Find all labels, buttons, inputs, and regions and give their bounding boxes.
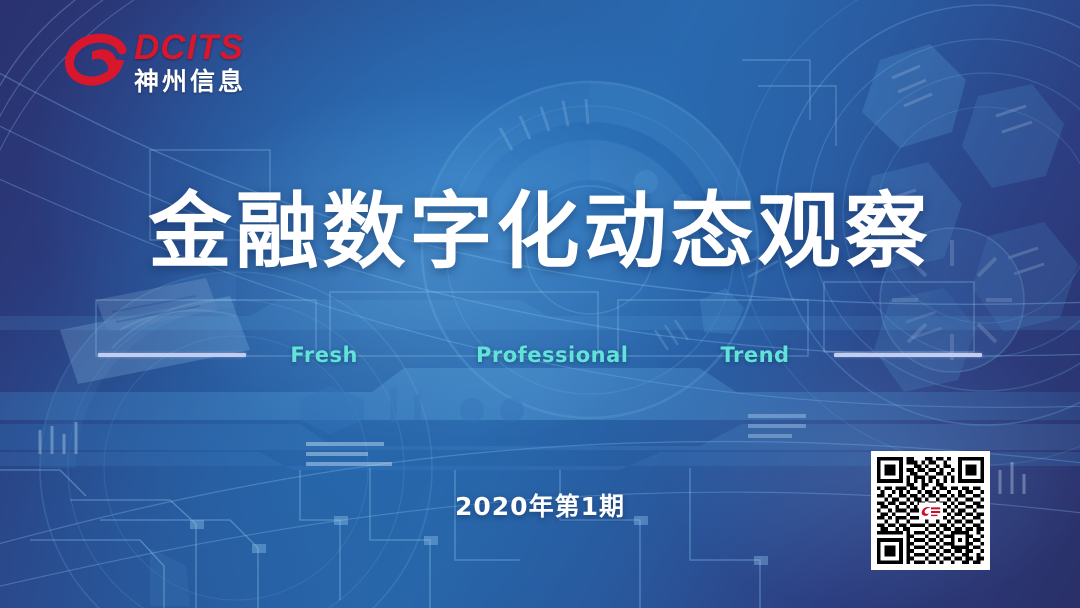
dcits-mini-logo-icon	[920, 503, 942, 518]
logo-wordmark-group: DCITS 神州信息	[134, 28, 284, 97]
tagline-row: Fresh Professional Trend	[0, 338, 1080, 372]
circuit-pads	[190, 516, 768, 565]
logo-chinese-name: 神州信息	[134, 67, 284, 97]
dcits-swirl-icon	[62, 30, 132, 96]
page-title: 金融数字化动态观察	[0, 180, 1080, 284]
gear-dial-left	[40, 272, 432, 608]
qr-code[interactable]	[871, 451, 990, 570]
tagline-word-fresh: Fresh	[290, 343, 358, 367]
dcits-swirl-svg	[62, 30, 132, 96]
tagline-rule-left	[98, 353, 246, 357]
brand-logo: DCITS 神州信息	[62, 28, 277, 110]
qr-center-logo	[919, 502, 943, 519]
cover-slide: DCITS 神州信息 金融数字化动态观察 Fresh Professional …	[0, 0, 1080, 608]
tech-band-upper	[0, 300, 1080, 330]
tagline-word-trend: Trend	[720, 343, 789, 367]
tagline-word-professional: Professional	[476, 343, 629, 367]
logo-wordmark: DCITS	[134, 28, 284, 68]
tagline-rule-right	[834, 353, 982, 357]
